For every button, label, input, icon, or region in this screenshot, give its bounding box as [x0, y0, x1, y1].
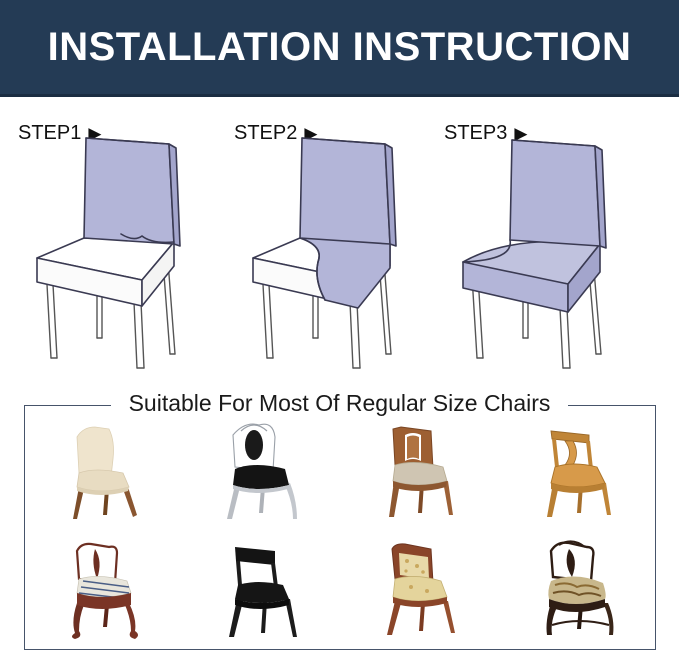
chair-photo-grid: [24, 412, 656, 648]
steps-row: STEP1 ▶: [0, 100, 679, 378]
chair-image-6: [201, 533, 321, 645]
header-banner: INSTALLATION INSTRUCTION: [0, 0, 679, 97]
chair-image-3: [359, 415, 479, 527]
chair-image-1: [43, 415, 163, 527]
chair-image-5: [43, 533, 163, 645]
step-illustration-3: [450, 130, 630, 370]
step-illustration-2: [240, 130, 420, 370]
step-block-1: STEP1 ▶: [0, 100, 226, 378]
step-block-3: STEP3 ▶: [426, 100, 652, 378]
chair-cell-walnut-splat-back-chair: [340, 412, 498, 530]
chair-cell-black-wood-side-chair: [182, 530, 340, 648]
chair-cell-dark-antique-carved-chair-tapestry-seat: [498, 530, 656, 648]
chair-image-4: [517, 415, 637, 527]
chair-cell-cream-upholstered-parsons-chair: [24, 412, 182, 530]
chair-image-2: [201, 415, 321, 527]
step-block-2: STEP2 ▶: [216, 100, 442, 378]
chair-cell-mahogany-chippendale-chair-striped-seat: [24, 530, 182, 648]
page-title: INSTALLATION INSTRUCTION: [48, 25, 632, 70]
chair-cell-honey-oak-hourglass-splat-chair: [498, 412, 656, 530]
chair-cell-cherry-wood-floral-upholstered-chair: [340, 530, 498, 648]
chair-image-7: [359, 533, 479, 645]
chair-cell-silver-baroque-chair-black-seat: [182, 412, 340, 530]
chair-image-8: [517, 533, 637, 645]
step-illustration-1: [24, 130, 204, 370]
